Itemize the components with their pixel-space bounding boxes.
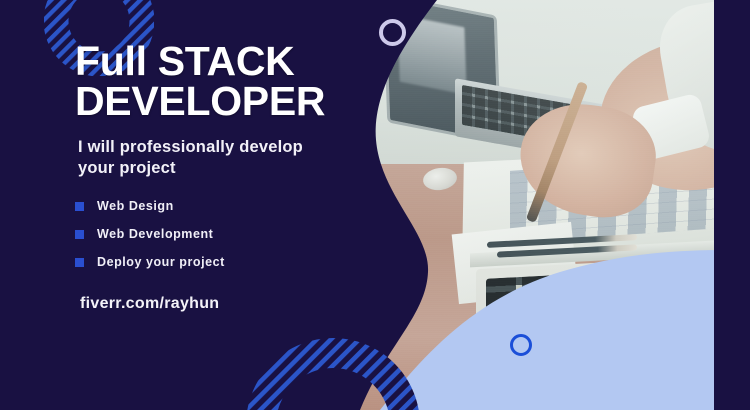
fiverr-gig-banner: Full STACK DEVELOPER I will professional… [0, 0, 750, 410]
list-item: Web Design [75, 193, 225, 219]
page-title: Full STACK DEVELOPER [75, 41, 325, 121]
bullet-square-icon [75, 258, 84, 267]
text-column: Full STACK DEVELOPER I will professional… [75, 0, 395, 410]
bullet-square-icon [75, 230, 84, 239]
service-label: Web Development [97, 227, 213, 241]
list-item: Deploy your project [75, 249, 225, 275]
service-label: Deploy your project [97, 255, 225, 269]
right-edge-band [714, 0, 750, 410]
services-list: Web Design Web Development Deploy your p… [75, 193, 225, 277]
bullet-square-icon [75, 202, 84, 211]
outline-ring-blob-icon [510, 334, 532, 356]
list-item: Web Development [75, 221, 225, 247]
subtitle: I will professionally develop your proje… [78, 137, 303, 179]
service-label: Web Design [97, 199, 174, 213]
profile-url-link[interactable]: fiverr.com/rayhun [80, 295, 219, 313]
